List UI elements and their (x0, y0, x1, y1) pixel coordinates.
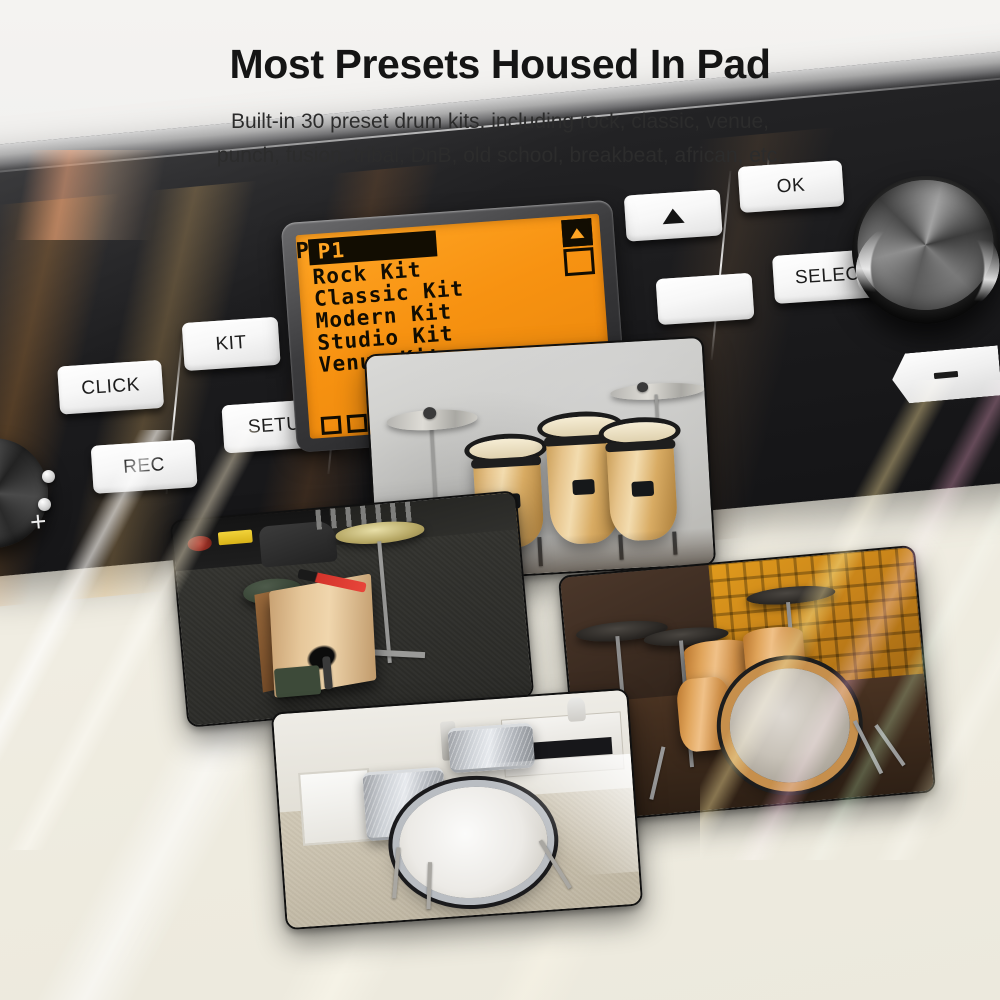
headline-block: Most Presets Housed In Pad Built-in 30 p… (0, 42, 1000, 173)
conga-drum (606, 430, 679, 542)
conga-badge (631, 481, 654, 497)
marketing-banner: CLICK KIT REC SETUP OK SELECT P P1 Rock … (0, 0, 1000, 1000)
lcd-scroll-indicator[interactable] (561, 218, 595, 278)
silver-kit-photo (273, 690, 641, 928)
lcd-status-box-icon (347, 414, 368, 433)
conga-rim (471, 456, 541, 469)
page-title: Most Presets Housed In Pad (0, 42, 1000, 87)
rec-button[interactable]: REC (91, 439, 198, 494)
lcd-bank-label: P1 (317, 239, 346, 262)
scroll-up-icon[interactable] (561, 218, 593, 247)
cajon-photo (172, 492, 532, 725)
cymbal-felt (637, 382, 649, 393)
floor-tom (676, 676, 735, 754)
thumbnail-silver-sparkle-kit[interactable] (271, 688, 643, 930)
conga-rim (605, 440, 675, 453)
led-indicator (42, 470, 55, 483)
vase-object (566, 697, 585, 722)
click-button[interactable]: CLICK (57, 360, 164, 415)
scroll-down-box[interactable] (563, 247, 595, 276)
conga-badge (572, 479, 595, 495)
subtitle-line-2: punch, fusion, tribal, DnB, old school, … (0, 139, 1000, 173)
lcd-status-box-icon (321, 416, 342, 435)
up-arrow-button[interactable] (624, 189, 723, 241)
kit-button[interactable]: KIT (182, 317, 281, 371)
down-arrow-button[interactable] (656, 273, 755, 325)
triangle-up-glyph (570, 227, 585, 238)
thumbnail-cajon-kit[interactable] (170, 490, 535, 728)
window-sunbeam (489, 754, 638, 881)
pedal-unit (274, 665, 321, 697)
minus-button[interactable] (890, 345, 1000, 404)
plus-marking: + (29, 507, 48, 536)
page-subtitle: Built-in 30 preset drum kits, including … (0, 105, 1000, 173)
subtitle-line-1: Built-in 30 preset drum kits, including … (0, 105, 1000, 139)
minus-icon (934, 371, 958, 379)
triangle-up-icon (662, 207, 685, 223)
